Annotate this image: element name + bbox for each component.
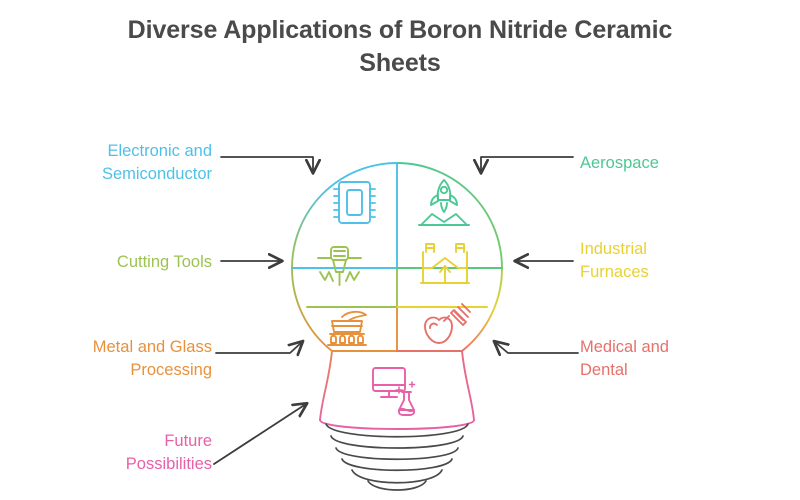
bulb-neck-left: [320, 351, 332, 420]
bulb-diagram-artwork: [0, 0, 800, 500]
bulb-arc-mid-left: [292, 268, 332, 351]
rocket-icon: [419, 180, 469, 225]
connector-metal-glass: [216, 342, 302, 353]
drill-icon: [318, 247, 361, 285]
bulb-neck-right: [462, 351, 474, 420]
connector-medical-dental: [495, 342, 578, 353]
microchip-icon: [334, 182, 375, 223]
bulb-collar: [320, 420, 474, 429]
connector-electronic: [221, 157, 313, 172]
connector-aerospace: [481, 157, 573, 172]
molten-ladle-icon: [328, 312, 366, 345]
factory-furnace-icon: [421, 244, 469, 283]
monitor-flask-icon: [373, 368, 415, 415]
bulb-arc-top-left: [292, 163, 397, 268]
bulb-screw-base: [326, 424, 468, 490]
connector-future-possibilities: [214, 404, 306, 464]
bulb-arc-top-right: [397, 163, 502, 268]
syringe-tooth-icon: [425, 304, 470, 343]
infographic-canvas: Diverse Applications of Boron Nitride Ce…: [0, 0, 800, 500]
